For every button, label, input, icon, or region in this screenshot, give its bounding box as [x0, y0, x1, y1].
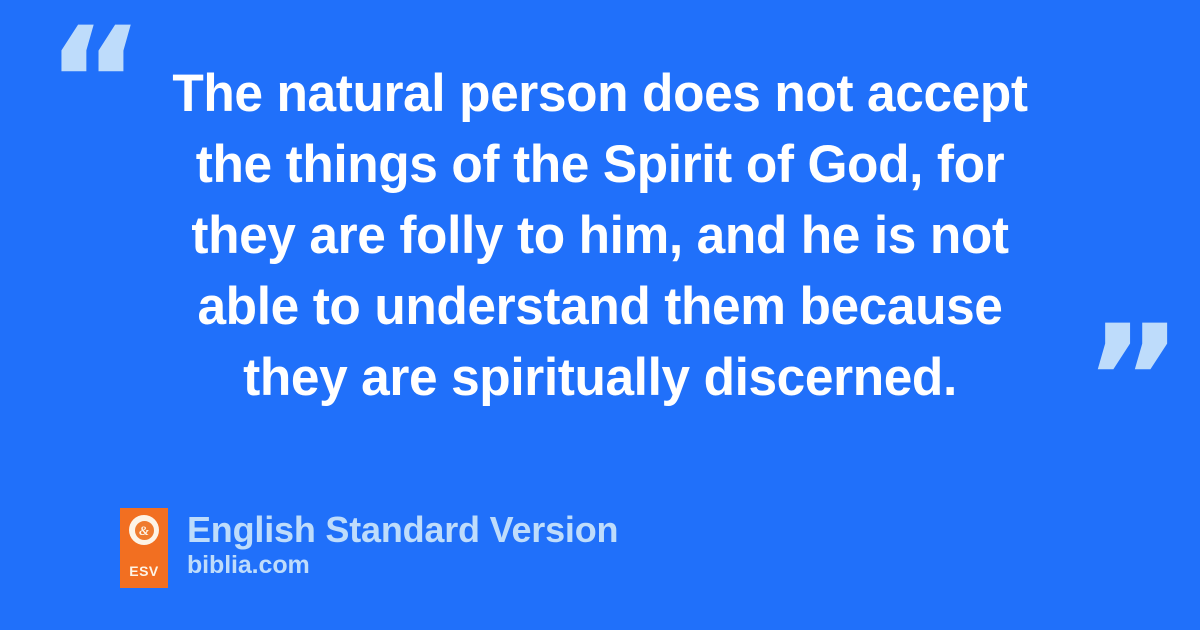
attribution-text: English Standard Version biblia.com — [187, 508, 618, 579]
site-url[interactable]: biblia.com — [187, 551, 618, 579]
esv-logo-label: ESV — [129, 564, 159, 578]
esv-seal-icon: & — [129, 515, 159, 545]
verse-line: the things of the Spirit of God, for — [134, 129, 1065, 200]
verse-line: they are folly to him, and he is not — [134, 200, 1065, 271]
verse-line: able to understand them because — [134, 271, 1065, 342]
closing-quote-icon: ” — [1084, 306, 1181, 456]
verse-card: “ The natural person does not accept the… — [0, 0, 1200, 630]
seal-inner-circle: & — [134, 520, 155, 541]
verse-text: The natural person does not accept the t… — [120, 58, 1080, 413]
seal-monogram: & — [139, 524, 149, 537]
attribution: & ESV English Standard Version biblia.co… — [120, 508, 618, 588]
verse-line: The natural person does not accept — [134, 58, 1065, 129]
esv-logo: & ESV — [120, 508, 168, 588]
translation-name: English Standard Version — [187, 510, 618, 550]
verse-line: they are spiritually discerned. — [134, 342, 1065, 413]
